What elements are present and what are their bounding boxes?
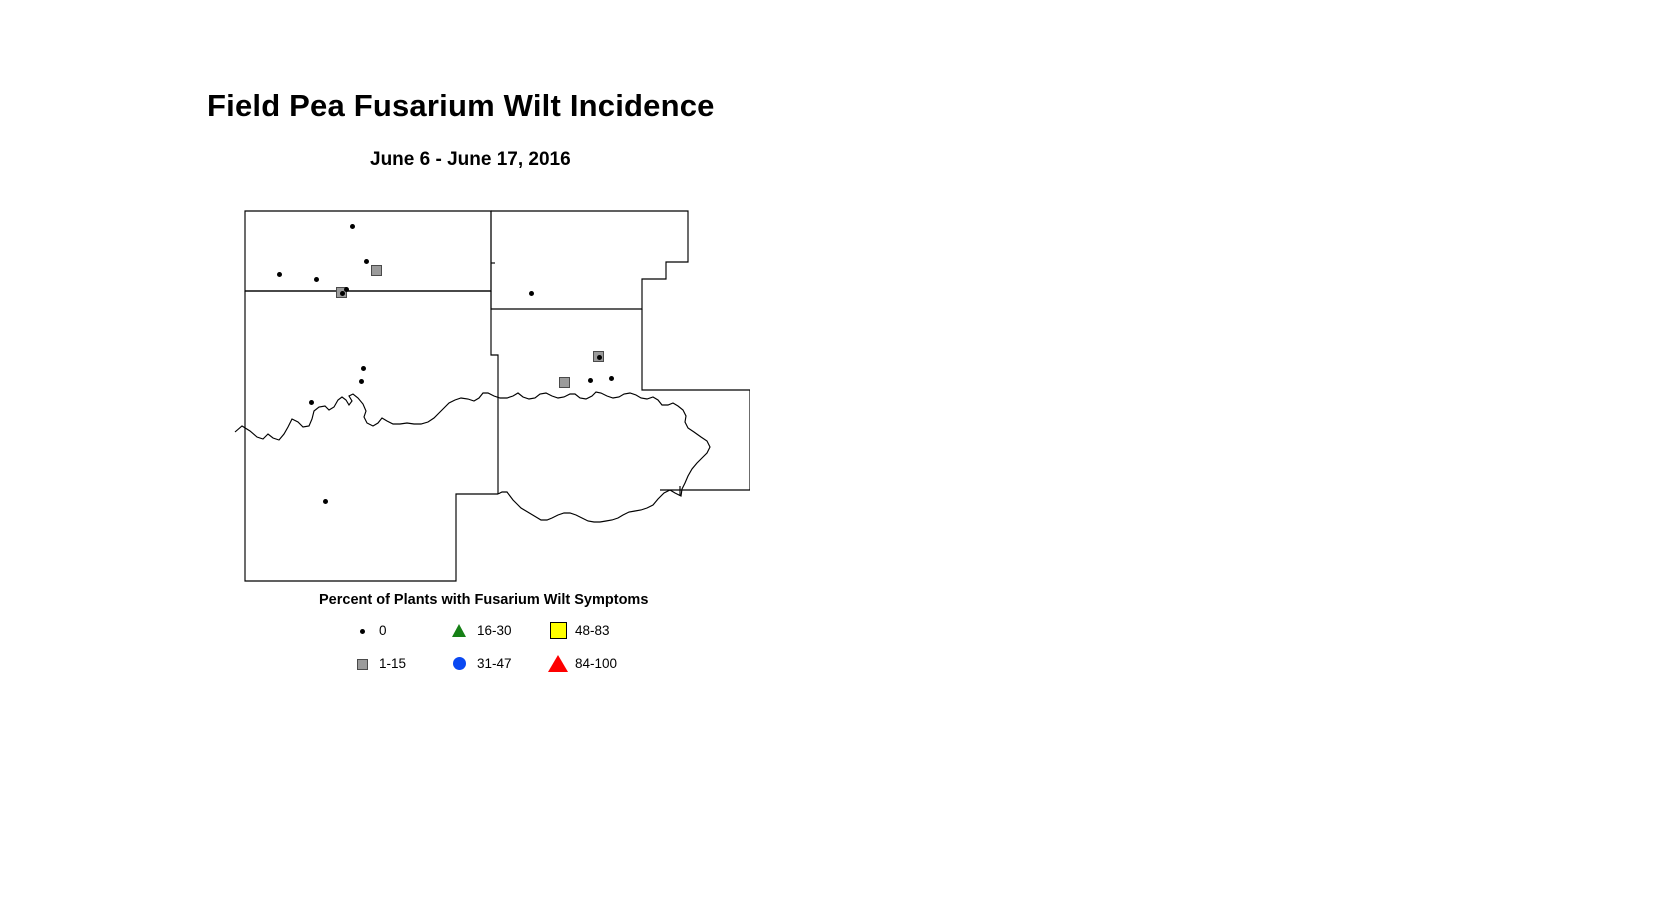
yellow-square-icon bbox=[548, 618, 570, 644]
map-point-marker[interactable] bbox=[361, 366, 366, 371]
map-point-marker[interactable] bbox=[359, 379, 364, 384]
map-point-marker[interactable] bbox=[597, 355, 602, 360]
map-point-marker[interactable] bbox=[371, 265, 382, 276]
legend: 0 16-30 48-83 1-15 31-47 84-100 bbox=[352, 618, 682, 680]
map-canvas[interactable] bbox=[230, 200, 750, 590]
legend-entry-label: 16-30 bbox=[477, 623, 512, 638]
map-point-marker[interactable] bbox=[323, 499, 328, 504]
legend-entry-label: 0 bbox=[379, 623, 387, 638]
legend-row: 0 16-30 48-83 bbox=[352, 618, 682, 644]
small-black-dot-icon bbox=[352, 618, 374, 644]
figure-canvas: Field Pea Fusarium Wilt Incidence June 6… bbox=[0, 0, 1673, 900]
county-outline-northwest bbox=[245, 211, 491, 291]
county-outline-northeast bbox=[491, 211, 688, 309]
river-boundary bbox=[235, 392, 710, 496]
map-point-marker[interactable] bbox=[559, 377, 570, 388]
page-subtitle: June 6 - June 17, 2016 bbox=[370, 149, 571, 171]
legend-entry-label: 84-100 bbox=[575, 656, 617, 671]
map-point-marker[interactable] bbox=[309, 400, 314, 405]
red-triangle-icon bbox=[548, 651, 570, 677]
legend-entry-label: 1-15 bbox=[379, 656, 406, 671]
legend-title: Percent of Plants with Fusarium Wilt Sym… bbox=[319, 592, 648, 608]
county-boundaries-svg bbox=[230, 200, 750, 590]
legend-entry-label: 48-83 bbox=[575, 623, 610, 638]
legend-entry-label: 31-47 bbox=[477, 656, 512, 671]
green-triangle-icon bbox=[450, 618, 472, 644]
map-point-marker[interactable] bbox=[609, 376, 614, 381]
map-point-marker[interactable] bbox=[340, 291, 345, 296]
river-boundary-south bbox=[498, 490, 670, 522]
map-point-marker[interactable] bbox=[277, 272, 282, 277]
map-point-marker[interactable] bbox=[314, 277, 319, 282]
map-point-marker[interactable] bbox=[529, 291, 534, 296]
map-point-marker[interactable] bbox=[350, 224, 355, 229]
map-point-marker[interactable] bbox=[364, 259, 369, 264]
legend-row: 1-15 31-47 84-100 bbox=[352, 651, 682, 677]
page-title: Field Pea Fusarium Wilt Incidence bbox=[207, 88, 715, 124]
county-outline-west-east-edge bbox=[491, 291, 498, 494]
county-outline-southeast bbox=[642, 309, 750, 390]
blue-circle-icon bbox=[450, 651, 472, 677]
map-point-marker[interactable] bbox=[588, 378, 593, 383]
gray-square-icon bbox=[352, 651, 374, 677]
